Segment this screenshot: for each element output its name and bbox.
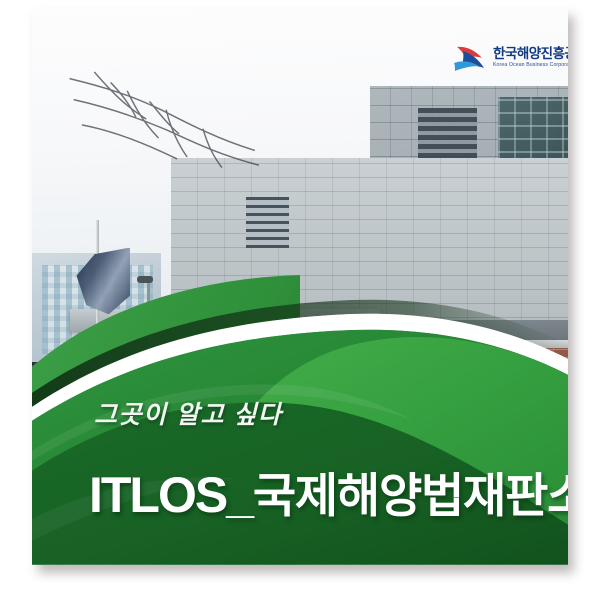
poster-canvas: 한국해양진흥공사 Korea Ocean Business Corporatio… bbox=[0, 0, 600, 600]
corporate-logo[interactable]: 한국해양진흥공사 Korea Ocean Business Corporatio… bbox=[453, 38, 568, 78]
title-latin: ITLOS bbox=[89, 467, 226, 523]
page-title: ITLOS_국제해양법재판소 bbox=[89, 457, 568, 526]
title-separator: _ bbox=[226, 467, 253, 523]
title-korean: 국제해양법재판소 bbox=[253, 469, 568, 522]
logo-name-ko: 한국해양진흥공사 bbox=[493, 47, 568, 61]
logo-name-en: Korea Ocean Business Corporation bbox=[493, 63, 568, 68]
eyebrow-text: 그곳이 알고 싶다 bbox=[94, 395, 282, 431]
wave-mark-icon bbox=[453, 43, 487, 73]
promo-card: 한국해양진흥공사 Korea Ocean Business Corporatio… bbox=[32, 8, 568, 565]
